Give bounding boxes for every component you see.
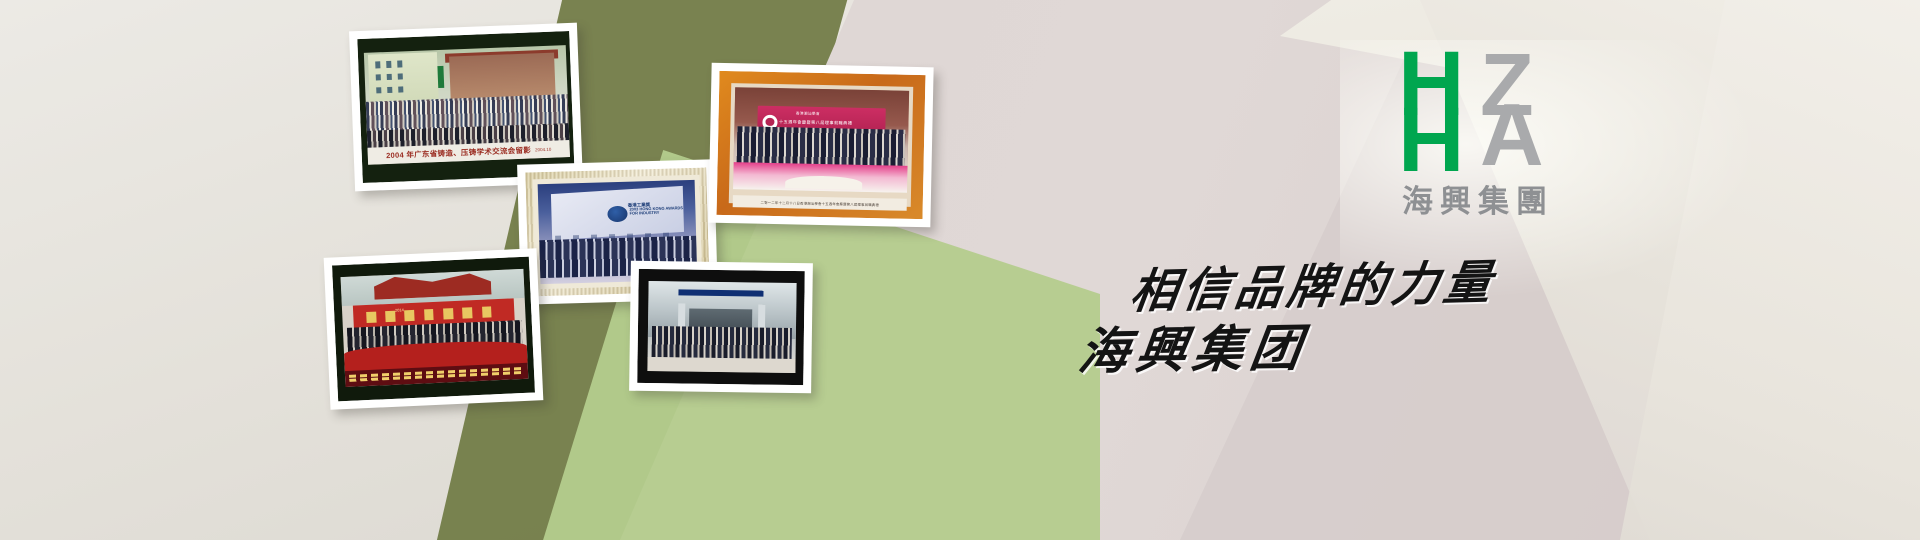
photo-inner [637,269,805,385]
banner-line1: 香港潮汕學會 [796,111,820,117]
photo-inner: 香港潮汕學會 十五週年會慶暨第八屆理事就職典禮 二零一二年十二月十八日香港潮汕學… [717,71,926,219]
brand-slogan: 相信品牌的力量 海興集团 [1080,248,1500,378]
photo-inner: 2014 [332,257,535,402]
ground-shape [647,357,795,373]
caption-date: 2004.10 [535,147,551,153]
company-logo: H H Z A 海興集團 [1388,52,1638,222]
logo-letter-h-bottom: H [1398,104,1460,178]
caption-text: 二零一二年十二月十八日香港潮汕學會十五週年會慶暨第八屆理事就職典禮 [760,199,879,206]
company-banner: 2004 年广东省铸造、压铸学术交流会留影 2004.10 香港工業獎 2003… [0,0,1920,540]
slogan-line-2: 海興集团 [1075,308,1314,384]
photo-image: 2004 年广东省铸造、压铸学术交流会留影 2004.10 [364,45,570,165]
flower-arrangement [733,163,908,193]
photo-image: 香港潮汕學會 十五週年會慶暨第八屆理事就職典禮 [733,87,909,193]
award-english-title: 2003 HONG KONG AWARDS FOR INDUSTRY [629,206,683,216]
photo-frame-red-stage-2014: 2014 [324,248,544,410]
entrance-banner [678,289,764,296]
caption-main: 2004 年广东省铸造、压铸学术交流会留影 [386,145,531,162]
photo-image [647,281,796,373]
logo-letter-marks: H H Z A [1398,52,1584,172]
photo-frame-pink-banner-ceremony: 香港潮汕學會 十五週年會慶暨第八屆理事就職典禮 二零一二年十二月十八日香港潮汕學… [708,63,933,228]
group-photo-people [737,126,905,168]
logo-letter-a: A [1480,100,1540,170]
photo-inner: 2004 年广东省铸造、压铸学术交流会留影 2004.10 [357,31,574,183]
photo-frame-building-entrance [629,261,813,394]
photo-image: 2014 [341,269,529,387]
flag-shape [437,66,444,89]
stage-year: 2014 [395,307,404,312]
banner-line2: 十五週年會慶暨第八屆理事就職典禮 [779,119,853,127]
group-photo-people [652,326,792,359]
